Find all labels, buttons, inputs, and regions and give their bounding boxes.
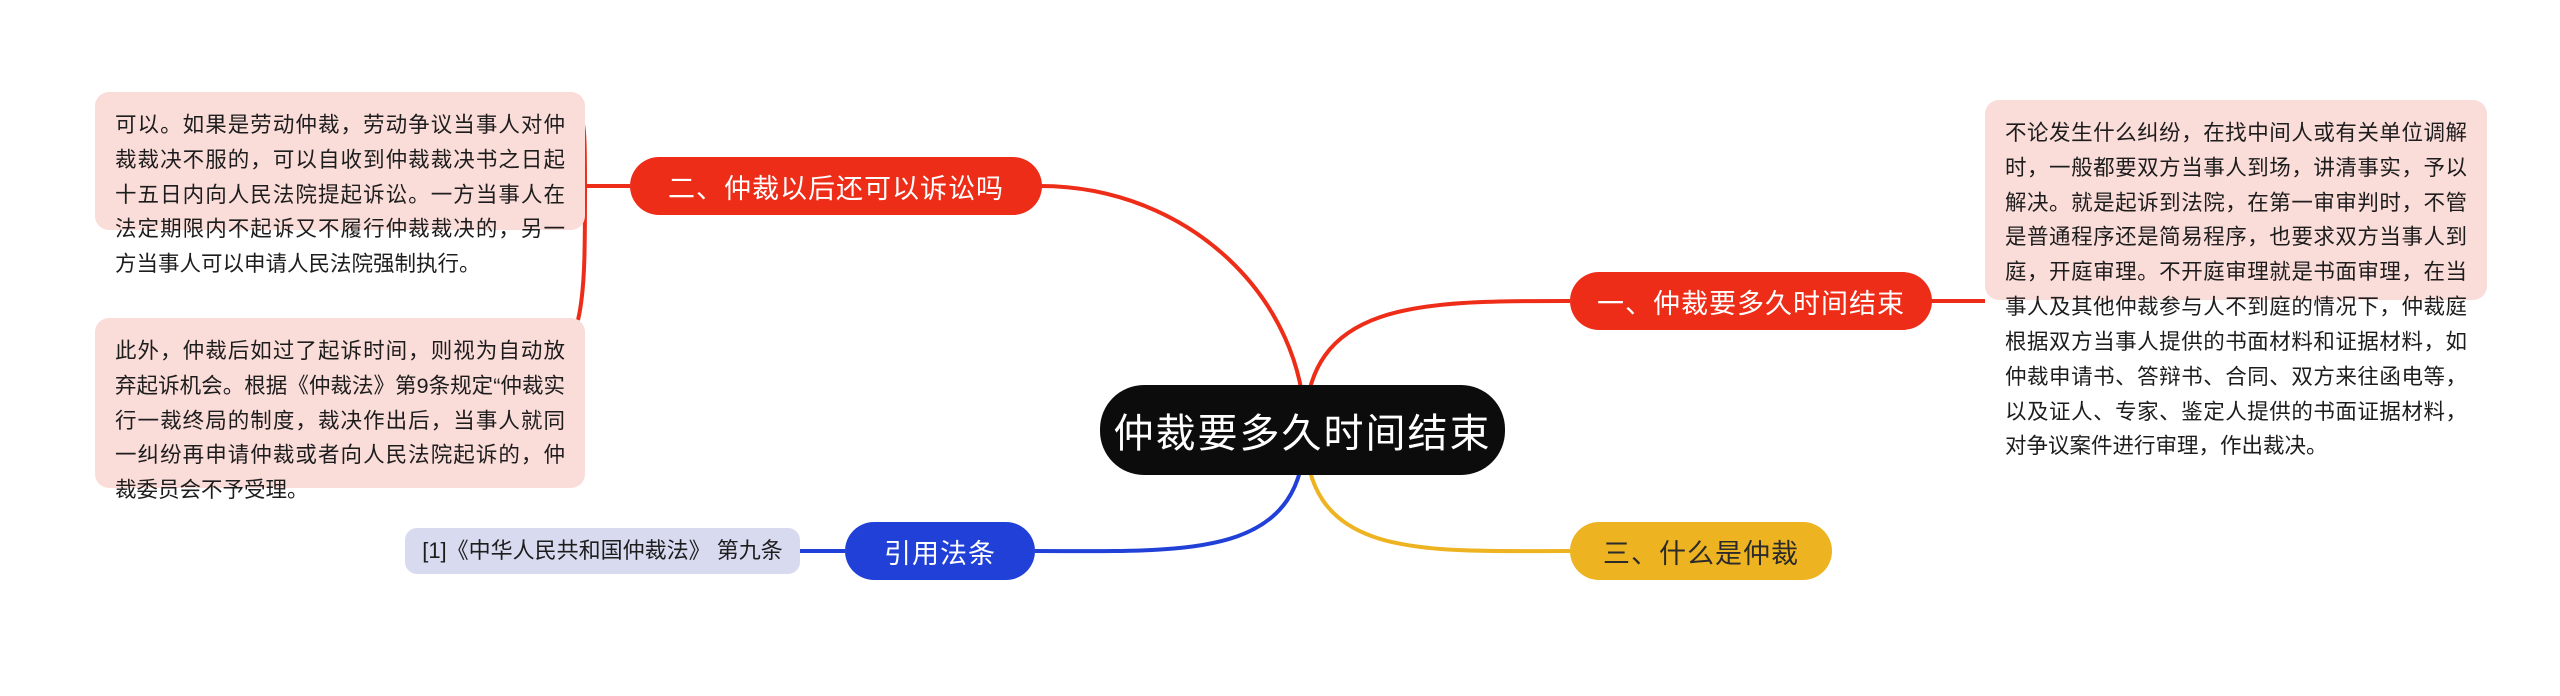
leaf-node-citation-text: [1]《中华人民共和国仲裁法》 第九条: [422, 537, 783, 566]
leaf-node-branch2-b-text: 此外，仲裁后如过了起诉时间，则视为自动放弃起诉机会。根据《仲裁法》第9条规定“仲…: [115, 339, 565, 502]
mindmap-canvas: 仲裁要多久时间结束 一、仲裁要多久时间结束 二、仲裁以后还可以诉讼吗 三、什么是…: [0, 0, 2560, 696]
leaf-node-branch2-b[interactable]: 此外，仲裁后如过了起诉时间，则视为自动放弃起诉机会。根据《仲裁法》第9条规定“仲…: [95, 318, 585, 488]
leaf-node-branch2-a[interactable]: 可以。如果是劳动仲裁，劳动争议当事人对仲裁裁决不服的，可以自收到仲裁裁决书之日起…: [95, 92, 585, 230]
branch-node-3-label: 三、什么是仲裁: [1603, 532, 1799, 571]
leaf-node-branch1-text: 不论发生什么纠纷，在找中间人或有关单位调解时，一般都要双方当事人到场，讲清事实，…: [2005, 121, 2467, 458]
branch-node-2-label: 二、仲裁以后还可以诉讼吗: [668, 167, 1004, 206]
leaf-node-branch1[interactable]: 不论发生什么纠纷，在找中间人或有关单位调解时，一般都要双方当事人到场，讲清事实，…: [1985, 100, 2487, 300]
branch-node-4-label: 引用法条: [884, 532, 996, 571]
branch-node-4[interactable]: 引用法条: [845, 522, 1035, 580]
leaf-node-citation[interactable]: [1]《中华人民共和国仲裁法》 第九条: [405, 528, 800, 574]
central-node-label: 仲裁要多久时间结束: [1114, 401, 1492, 459]
branch-node-1[interactable]: 一、仲裁要多久时间结束: [1570, 272, 1932, 330]
branch-node-3[interactable]: 三、什么是仲裁: [1570, 522, 1832, 580]
branch-node-1-label: 一、仲裁要多久时间结束: [1597, 282, 1905, 321]
branch-node-2[interactable]: 二、仲裁以后还可以诉讼吗: [630, 157, 1042, 215]
central-node[interactable]: 仲裁要多久时间结束: [1100, 385, 1505, 475]
